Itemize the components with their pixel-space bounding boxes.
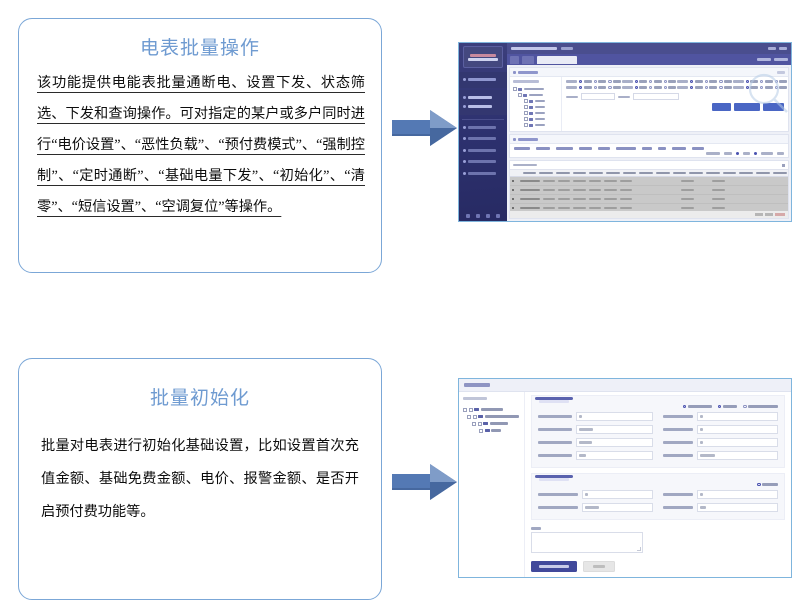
table-header-row bbox=[510, 169, 788, 177]
table-cell bbox=[681, 207, 693, 209]
table-cell bbox=[697, 207, 709, 209]
search-card bbox=[509, 67, 789, 132]
table-cell bbox=[589, 180, 601, 182]
search-card-header bbox=[510, 68, 788, 77]
field-label bbox=[538, 454, 572, 457]
table-cell bbox=[543, 207, 555, 209]
table-cell bbox=[728, 207, 740, 209]
section-advanced-settings bbox=[531, 473, 785, 521]
callout-title: 电表批量操作 bbox=[19, 33, 381, 60]
callout-body: 该功能提供电能表批量通断电、设置下发、状态筛选、下发和查询操作。可对指定的某户或… bbox=[37, 68, 365, 223]
collapse-icon[interactable] bbox=[777, 71, 785, 74]
footer-icon[interactable] bbox=[476, 214, 480, 218]
app-logo bbox=[463, 46, 503, 68]
sidebar-item[interactable] bbox=[463, 76, 503, 84]
callout-title: 批量初始化 bbox=[19, 383, 381, 410]
op-ac-reset[interactable] bbox=[692, 147, 704, 150]
table-cell bbox=[666, 180, 678, 182]
table-cell bbox=[589, 207, 601, 209]
table-cell bbox=[620, 198, 632, 200]
field-input[interactable] bbox=[697, 412, 778, 421]
field-input[interactable] bbox=[576, 438, 653, 447]
radio-option[interactable] bbox=[664, 86, 677, 89]
tab-action[interactable] bbox=[774, 58, 788, 61]
radio-option[interactable] bbox=[775, 80, 788, 83]
app-sidebar[interactable] bbox=[459, 43, 507, 221]
column-header bbox=[673, 172, 687, 175]
checkbox[interactable] bbox=[479, 429, 483, 433]
field-input[interactable] bbox=[697, 425, 778, 434]
row-checkbox[interactable] bbox=[510, 198, 518, 201]
sidebar-item[interactable] bbox=[463, 135, 503, 143]
folder-icon bbox=[529, 100, 533, 103]
table-cell bbox=[666, 198, 678, 200]
table-cell bbox=[635, 180, 647, 182]
field-label bbox=[663, 454, 693, 457]
table-cell bbox=[620, 180, 632, 182]
checkbox[interactable] bbox=[524, 105, 528, 109]
footer-icon[interactable] bbox=[496, 214, 500, 218]
section-tag-basic-settings bbox=[535, 397, 573, 400]
table-cell bbox=[604, 180, 616, 182]
column-header bbox=[689, 172, 703, 175]
table-footer[interactable] bbox=[510, 211, 788, 218]
field-input[interactable] bbox=[697, 438, 778, 447]
table-cell bbox=[774, 189, 786, 191]
expander-icon[interactable] bbox=[472, 422, 476, 426]
table-cell bbox=[743, 180, 755, 182]
table-cell bbox=[666, 207, 678, 209]
table-cell bbox=[573, 198, 585, 200]
table-cell bbox=[759, 207, 771, 209]
tree-node[interactable] bbox=[463, 427, 520, 434]
batch-init-form bbox=[525, 392, 791, 577]
radio-option[interactable] bbox=[760, 80, 773, 83]
table-cell bbox=[543, 198, 555, 200]
folder-icon bbox=[529, 118, 533, 121]
row-checkbox[interactable] bbox=[510, 180, 518, 183]
section-tag-advanced-settings bbox=[535, 475, 573, 478]
radio-option[interactable] bbox=[757, 483, 778, 487]
tab-secondary[interactable] bbox=[522, 56, 534, 64]
meta-item[interactable] bbox=[706, 152, 720, 155]
field-input[interactable] bbox=[582, 503, 653, 512]
field-label bbox=[663, 428, 693, 431]
field-input[interactable] bbox=[576, 425, 653, 434]
folder-icon bbox=[518, 88, 522, 91]
radio-option[interactable] bbox=[718, 405, 737, 409]
radio-option[interactable] bbox=[579, 80, 592, 83]
table-summary bbox=[513, 164, 537, 167]
callout-body: 批量对电表进行初始化基础设置，比如设置首次充值金额、基础免费金额、电价、报警金额… bbox=[41, 430, 359, 529]
tree-node[interactable] bbox=[463, 413, 520, 420]
table-cell bbox=[520, 180, 540, 182]
table-cell bbox=[589, 189, 601, 191]
folder-icon bbox=[529, 106, 533, 109]
radio-option[interactable] bbox=[743, 405, 778, 409]
table-cell bbox=[666, 189, 678, 191]
table-row[interactable] bbox=[510, 186, 788, 195]
table-cell bbox=[620, 189, 632, 191]
table-cell bbox=[712, 207, 724, 209]
field-label bbox=[538, 415, 572, 418]
radio-option[interactable] bbox=[746, 86, 759, 89]
input-label bbox=[566, 96, 578, 99]
apply-and-send-button[interactable] bbox=[531, 561, 577, 572]
checkbox[interactable] bbox=[524, 117, 528, 121]
field-label bbox=[538, 493, 578, 496]
filter-group-3[interactable] bbox=[677, 80, 729, 89]
tree-node[interactable] bbox=[513, 122, 558, 128]
op-clear[interactable] bbox=[658, 147, 666, 150]
radio-option[interactable] bbox=[579, 86, 592, 89]
column-header bbox=[623, 172, 637, 175]
radio-option[interactable] bbox=[775, 86, 788, 89]
table-cell bbox=[573, 207, 585, 209]
row-checkbox[interactable] bbox=[510, 189, 518, 192]
column-header bbox=[639, 172, 653, 175]
table-cell bbox=[520, 207, 540, 209]
checkbox[interactable] bbox=[513, 87, 517, 91]
checkbox[interactable] bbox=[524, 99, 528, 103]
op-prepay-mode[interactable] bbox=[556, 147, 573, 150]
table-cell bbox=[620, 207, 632, 209]
sidebar-group-2[interactable] bbox=[459, 90, 507, 115]
field-label bbox=[538, 428, 572, 431]
radio-option[interactable] bbox=[705, 80, 718, 83]
radio-option[interactable] bbox=[664, 80, 677, 83]
search-icon bbox=[513, 71, 516, 74]
tab-active-meter-batch[interactable] bbox=[537, 56, 577, 64]
table-cell bbox=[728, 189, 740, 191]
search-button[interactable] bbox=[712, 103, 731, 111]
radio-option[interactable] bbox=[690, 86, 703, 89]
table-cell bbox=[558, 189, 570, 191]
radio-option[interactable] bbox=[594, 86, 607, 89]
header-actions[interactable] bbox=[768, 47, 787, 50]
table-cell bbox=[543, 180, 555, 182]
folder-icon bbox=[523, 94, 527, 97]
sidebar-footer[interactable] bbox=[459, 211, 507, 221]
meta-item[interactable] bbox=[724, 152, 732, 155]
note-field-wrap bbox=[531, 527, 785, 553]
table-cell bbox=[573, 180, 585, 182]
app-subtitle bbox=[561, 47, 573, 50]
arrow-right-icon bbox=[392, 462, 458, 502]
tab-action[interactable] bbox=[757, 58, 771, 61]
table-cell bbox=[774, 207, 786, 209]
sidebar-divider bbox=[462, 119, 504, 120]
table-cell bbox=[774, 198, 786, 200]
table-cell bbox=[712, 180, 724, 182]
table-cell bbox=[604, 189, 616, 191]
reset-button[interactable] bbox=[763, 103, 784, 111]
column-header bbox=[606, 172, 620, 175]
pagination-current[interactable] bbox=[775, 213, 785, 216]
org-tree-panel[interactable] bbox=[510, 77, 562, 131]
sidebar-item[interactable] bbox=[463, 94, 503, 102]
table-body[interactable] bbox=[510, 177, 788, 211]
sidebar-item[interactable] bbox=[463, 170, 503, 178]
table-cell bbox=[759, 189, 771, 191]
sidebar-item[interactable] bbox=[463, 147, 503, 155]
pagination-item[interactable] bbox=[765, 213, 773, 216]
table-cell bbox=[681, 180, 693, 182]
column-header bbox=[589, 172, 603, 175]
table-cell bbox=[651, 207, 663, 209]
field-input[interactable] bbox=[576, 451, 653, 460]
field-label bbox=[663, 493, 693, 496]
radio-option[interactable] bbox=[760, 86, 773, 89]
field-label bbox=[663, 441, 693, 444]
operations-toolbar[interactable] bbox=[510, 144, 788, 152]
checkbox[interactable] bbox=[469, 408, 473, 412]
pagination-item[interactable] bbox=[755, 213, 763, 216]
radio-option[interactable] bbox=[719, 80, 732, 83]
section-options[interactable] bbox=[538, 483, 778, 487]
checkbox[interactable] bbox=[478, 422, 482, 426]
op-initialize[interactable] bbox=[642, 147, 652, 150]
radio-option[interactable] bbox=[635, 80, 648, 83]
table-cell bbox=[712, 189, 724, 191]
tree-node[interactable] bbox=[463, 406, 520, 413]
radio-option[interactable] bbox=[690, 80, 703, 83]
folder-icon bbox=[529, 124, 533, 127]
table-cell bbox=[681, 198, 693, 200]
operations-meta[interactable] bbox=[510, 152, 788, 157]
radio-option[interactable] bbox=[719, 86, 732, 89]
filter-input-1[interactable] bbox=[581, 93, 615, 100]
app-title bbox=[511, 47, 557, 50]
op-force-control[interactable] bbox=[579, 147, 592, 150]
screenshot-meter-batch-operation: 电表批量操作界面截图 bbox=[458, 42, 792, 222]
callout-batch-initialization: 批量初始化 批量对电表进行初始化基础设置，比如设置首次充值金额、基础免费金额、电… bbox=[18, 358, 382, 600]
filter-input-2[interactable] bbox=[633, 93, 679, 100]
radio-option[interactable] bbox=[649, 80, 662, 83]
table-cell bbox=[543, 189, 555, 191]
radio-option[interactable] bbox=[635, 86, 648, 89]
field-label bbox=[663, 415, 693, 418]
table-cell bbox=[604, 207, 616, 209]
op-timed-cutoff[interactable] bbox=[598, 147, 610, 150]
operations-card-header bbox=[510, 135, 788, 144]
field-input[interactable] bbox=[576, 412, 653, 421]
op-malicious-load[interactable] bbox=[536, 147, 550, 150]
column-header bbox=[573, 172, 587, 175]
table-cell bbox=[558, 198, 570, 200]
folder-icon bbox=[478, 415, 483, 419]
expander-icon[interactable] bbox=[463, 408, 467, 412]
table-row[interactable] bbox=[510, 195, 788, 204]
meta-item[interactable] bbox=[761, 152, 773, 155]
tab-home[interactable] bbox=[510, 56, 519, 64]
section-options[interactable] bbox=[538, 405, 778, 409]
column-header bbox=[523, 172, 537, 175]
table-cell bbox=[712, 198, 724, 200]
header-action[interactable] bbox=[768, 47, 776, 50]
table-row[interactable] bbox=[510, 177, 788, 186]
table-cell bbox=[520, 198, 540, 200]
table-cell bbox=[604, 198, 616, 200]
filter-group-1[interactable] bbox=[566, 80, 618, 89]
filter-panel bbox=[562, 77, 788, 131]
field-label bbox=[538, 441, 572, 444]
op-base-energy-send[interactable] bbox=[616, 147, 636, 150]
folder-icon bbox=[474, 408, 479, 412]
op-sms-setting[interactable] bbox=[672, 147, 686, 150]
field-label bbox=[663, 506, 693, 509]
radio-option[interactable] bbox=[649, 86, 662, 89]
table-cell bbox=[651, 198, 663, 200]
meta-item[interactable] bbox=[743, 152, 750, 155]
checkbox[interactable] bbox=[518, 93, 522, 97]
column-header bbox=[556, 172, 570, 175]
table-cell bbox=[651, 180, 663, 182]
radio-option[interactable] bbox=[594, 80, 607, 83]
note-label bbox=[531, 527, 541, 530]
table-cell bbox=[520, 189, 540, 191]
table-cell bbox=[635, 189, 647, 191]
table-row[interactable] bbox=[510, 204, 788, 211]
meta-item[interactable] bbox=[777, 152, 784, 155]
dialog-org-tree[interactable] bbox=[459, 392, 525, 577]
table-cell bbox=[697, 189, 709, 191]
org-tree-header bbox=[513, 80, 539, 83]
table-cell bbox=[635, 198, 647, 200]
table-cell bbox=[558, 180, 570, 182]
column-header bbox=[723, 172, 737, 175]
close-button bbox=[583, 561, 615, 572]
field-input[interactable] bbox=[582, 490, 653, 499]
table-cell bbox=[743, 189, 755, 191]
note-textarea[interactable] bbox=[531, 532, 643, 553]
table-cell bbox=[635, 207, 647, 209]
operations-card bbox=[509, 134, 789, 158]
filter-group-4[interactable] bbox=[733, 80, 785, 89]
radio-option[interactable] bbox=[608, 80, 621, 83]
column-header bbox=[656, 172, 670, 175]
expander-icon[interactable] bbox=[467, 415, 471, 419]
table-cell bbox=[697, 180, 709, 182]
folder-icon bbox=[485, 429, 490, 433]
meta-radio[interactable] bbox=[736, 152, 739, 155]
gear-icon bbox=[513, 138, 516, 141]
sidebar-item[interactable] bbox=[463, 103, 503, 111]
section-basic-settings bbox=[531, 395, 785, 469]
table-cell bbox=[743, 207, 755, 209]
footer-icon[interactable] bbox=[486, 214, 490, 218]
screenshot-batch-initialization: 批量初始化弹窗截图 bbox=[458, 378, 792, 578]
input-label bbox=[618, 96, 630, 99]
column-header bbox=[773, 172, 787, 175]
checkbox[interactable] bbox=[524, 111, 528, 115]
callout-meter-batch-operation: 电表批量操作 该功能提供电能表批量通断电、设置下发、状态筛选、下发和查询操作。可… bbox=[18, 18, 382, 273]
advanced-search-button[interactable] bbox=[734, 103, 760, 111]
tree-header bbox=[463, 397, 487, 400]
field-input[interactable] bbox=[697, 503, 778, 512]
meta-radio[interactable] bbox=[754, 152, 757, 155]
radio-option[interactable] bbox=[746, 80, 759, 83]
meter-table[interactable] bbox=[509, 160, 789, 219]
row-checkbox[interactable] bbox=[510, 207, 518, 210]
filter-group-2[interactable] bbox=[622, 80, 674, 89]
folder-icon bbox=[529, 112, 533, 115]
header-action[interactable] bbox=[779, 47, 787, 50]
column-header bbox=[539, 172, 553, 175]
table-cell bbox=[558, 207, 570, 209]
field-input[interactable] bbox=[697, 451, 778, 460]
tab-bar-actions[interactable] bbox=[757, 58, 788, 61]
op-price-setting[interactable] bbox=[514, 147, 530, 150]
table-cell bbox=[573, 189, 585, 191]
dialog-title bbox=[464, 383, 490, 386]
column-header bbox=[739, 172, 753, 175]
radio-option[interactable] bbox=[608, 86, 621, 89]
arrow-right-icon bbox=[392, 108, 458, 148]
checkbox[interactable] bbox=[473, 415, 477, 419]
table-cell bbox=[697, 198, 709, 200]
table-cell bbox=[681, 189, 693, 191]
column-settings-icon[interactable] bbox=[782, 164, 785, 167]
tab-bar[interactable] bbox=[507, 54, 791, 65]
field-label bbox=[538, 506, 578, 509]
table-cell bbox=[728, 198, 740, 200]
sidebar-item[interactable] bbox=[463, 124, 503, 132]
table-cell bbox=[759, 198, 771, 200]
tree-node[interactable] bbox=[463, 420, 520, 427]
table-cell bbox=[651, 189, 663, 191]
footer-icon[interactable] bbox=[466, 214, 470, 218]
column-header bbox=[756, 172, 770, 175]
table-cell bbox=[589, 198, 601, 200]
radio-option[interactable] bbox=[683, 405, 712, 409]
field-input[interactable] bbox=[697, 490, 778, 499]
app-header bbox=[507, 43, 791, 54]
checkbox[interactable] bbox=[524, 123, 528, 127]
table-toolbar bbox=[510, 161, 788, 169]
table-cell bbox=[759, 180, 771, 182]
sidebar-item[interactable] bbox=[463, 158, 503, 166]
table-cell bbox=[743, 198, 755, 200]
table-cell bbox=[774, 180, 786, 182]
sidebar-group-1[interactable] bbox=[459, 72, 507, 88]
radio-option[interactable] bbox=[705, 86, 718, 89]
table-cell bbox=[728, 180, 740, 182]
folder-icon bbox=[483, 422, 488, 426]
column-header bbox=[706, 172, 720, 175]
dialog-title-bar bbox=[459, 379, 791, 392]
